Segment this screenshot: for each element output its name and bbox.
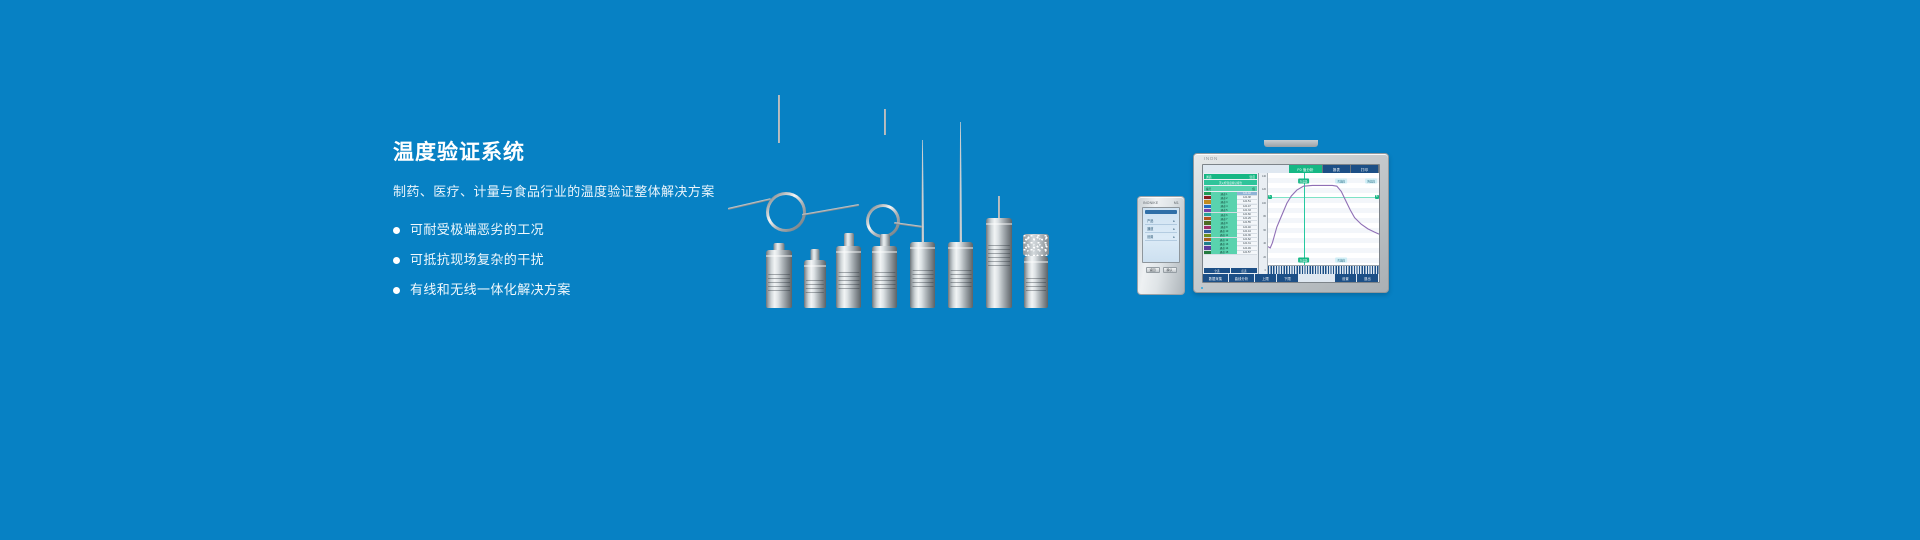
channel-color-swatch bbox=[1204, 246, 1211, 249]
row-label: 通道 bbox=[1147, 226, 1153, 231]
monitor-stand bbox=[1264, 140, 1318, 147]
temperature-chart[interactable]: 140120100806040200 升温段 灭菌段 降温段 A B 升温段 bbox=[1259, 173, 1379, 274]
logger-label bbox=[806, 280, 824, 294]
table-column-headers: 编号 值 bbox=[1204, 186, 1257, 191]
sintered-filter-cap bbox=[1023, 234, 1049, 256]
handheld-titlebar bbox=[1145, 210, 1177, 214]
handheld-screen: 产品 ▸ 通道 ▸ 设置 ▸ bbox=[1142, 207, 1180, 263]
data-logger-unit bbox=[948, 242, 973, 308]
probe-stem bbox=[778, 95, 780, 143]
channel-color-swatch bbox=[1204, 205, 1211, 208]
channel-footer: 全选 反选 bbox=[1204, 268, 1257, 273]
axis-tick-label: 40 bbox=[1263, 242, 1266, 245]
data-logger-unit bbox=[836, 246, 861, 308]
confirm-button[interactable]: 确认 bbox=[1163, 267, 1177, 273]
logger-cap bbox=[844, 233, 854, 246]
marker-cursor-bottom[interactable]: 升温段 bbox=[1298, 258, 1310, 263]
data-logger-unit bbox=[766, 250, 792, 308]
lower-limit-button[interactable]: 下限 bbox=[1277, 274, 1299, 282]
marker-heating[interactable]: 升温段 bbox=[1298, 179, 1310, 184]
handheld-brand: INONIKE bbox=[1143, 201, 1158, 205]
tab-bar: F0 值分析 报表 打印 bbox=[1203, 165, 1379, 173]
hero-banner: 温度验证系统 制药、医疗、计量与食品行业的温度验证整体解决方案 可耐受极端恶劣的… bbox=[0, 0, 1920, 540]
data-logger-unit bbox=[910, 242, 935, 308]
feature-label: 可耐受极端恶劣的工况 bbox=[410, 222, 544, 239]
logger-label bbox=[912, 270, 933, 290]
axis-tick-label: 100 bbox=[1262, 202, 1266, 205]
bullet-dot-icon bbox=[393, 287, 400, 294]
list-item[interactable]: 设置 ▸ bbox=[1145, 233, 1177, 241]
data-logger-unit bbox=[986, 218, 1012, 308]
needle-probe bbox=[959, 122, 962, 242]
curve-analysis-button[interactable]: 曲线分析 bbox=[1229, 274, 1255, 282]
upper-limit-button[interactable]: 上限 bbox=[1255, 274, 1277, 282]
channel-panel: 通道 温度 灭火柜温度验证报告 编号 值 通道 1121.42通道 2121.3… bbox=[1203, 173, 1259, 274]
axis-tick-label: 140 bbox=[1262, 175, 1266, 178]
channel-value-cell: 121.51 bbox=[1237, 200, 1257, 203]
bullet-dot-icon bbox=[393, 257, 400, 264]
channel-value-cell: 121.49 bbox=[1237, 247, 1257, 250]
y-axis: 140120100806040200 bbox=[1259, 173, 1268, 274]
channel-value-cell: 121.62 bbox=[1237, 238, 1257, 241]
channel-color-swatch bbox=[1204, 200, 1211, 203]
channel-color-swatch bbox=[1204, 196, 1211, 199]
report-subtitle: 灭火柜温度验证报告 bbox=[1204, 180, 1257, 185]
needle-probe bbox=[921, 140, 924, 242]
axis-tick-label: 0 bbox=[1265, 269, 1266, 272]
software-screen: F0 值分析 报表 打印 通道 温度 灭火柜温度验证报告 编号 值 通道 1 bbox=[1202, 164, 1380, 283]
tab-f0-analysis[interactable]: F0 值分析 bbox=[1289, 165, 1323, 173]
channel-value-cell: 121.33 bbox=[1237, 209, 1257, 212]
marker-cooling[interactable]: 降温段 bbox=[1365, 179, 1377, 184]
plot-area: 升温段 灭菌段 降温段 A B 升温段 灭菌段 bbox=[1268, 173, 1379, 265]
row-label: 产品 bbox=[1147, 218, 1153, 223]
data-acquisition-button[interactable]: 数据采集 bbox=[1203, 274, 1229, 282]
channel-color-swatch bbox=[1204, 209, 1211, 212]
logger-label bbox=[838, 272, 859, 291]
exit-button[interactable]: 退出 bbox=[1357, 274, 1379, 282]
handheld-reader[interactable]: INONIKE M1 产品 ▸ 通道 ▸ 设置 ▸ 返回 确认 bbox=[1137, 196, 1185, 295]
logger-label bbox=[950, 270, 971, 290]
channel-value-cell: 121.47 bbox=[1237, 205, 1257, 208]
channel-color-swatch bbox=[1204, 238, 1211, 241]
bullet-dot-icon bbox=[393, 227, 400, 234]
probe-stem bbox=[884, 109, 886, 135]
select-all-button[interactable]: 全选 bbox=[1204, 268, 1231, 273]
channel-color-swatch bbox=[1204, 242, 1211, 245]
channel-name-cell: 通道 15 bbox=[1211, 250, 1237, 254]
list-item[interactable]: 通道 ▸ bbox=[1145, 225, 1177, 233]
settings-button[interactable]: 设置 bbox=[1335, 274, 1357, 282]
channel-value-cell: 121.60 bbox=[1237, 213, 1257, 216]
channel-color-swatch bbox=[1204, 251, 1211, 254]
row-label: 设置 bbox=[1147, 234, 1153, 239]
logger-label bbox=[874, 272, 895, 291]
channel-color-swatch bbox=[1204, 234, 1211, 237]
logger-label bbox=[768, 274, 790, 291]
channel-panel-header: 通道 温度 bbox=[1204, 174, 1257, 179]
chevron-right-icon: ▸ bbox=[1173, 235, 1175, 239]
logger-cap bbox=[774, 243, 785, 250]
screen-body: 通道 温度 灭火柜温度验证报告 编号 值 通道 1121.42通道 2121.3… bbox=[1203, 173, 1379, 274]
channel-color-swatch bbox=[1204, 230, 1211, 233]
channel-value-cell: 121.40 bbox=[1237, 226, 1257, 229]
axis-tick-label: 120 bbox=[1262, 188, 1266, 191]
toolbar-spacer bbox=[1299, 274, 1335, 282]
feature-label: 有线和无线一体化解决方案 bbox=[410, 282, 571, 299]
channel-color-swatch bbox=[1204, 213, 1211, 216]
tab-spacer bbox=[1203, 165, 1289, 173]
channel-value-cell: 121.29 bbox=[1237, 217, 1257, 220]
timeline-scrollbar[interactable] bbox=[1268, 265, 1379, 274]
chevron-right-icon: ▸ bbox=[1173, 227, 1175, 231]
bottom-toolbar: 数据采集 曲线分析 上限 下限 设置 退出 bbox=[1203, 274, 1379, 282]
logger-cap bbox=[811, 249, 820, 260]
axis-tick-label: 60 bbox=[1263, 229, 1266, 232]
channel-value-cell: 121.31 bbox=[1237, 242, 1257, 245]
header-right-label: 温度 bbox=[1249, 175, 1255, 179]
logger-label bbox=[1026, 278, 1046, 294]
data-logger-unit bbox=[872, 246, 897, 308]
channel-value-cell: 121.36 bbox=[1237, 234, 1257, 237]
marker-sterilize[interactable]: 灭菌段 bbox=[1335, 179, 1347, 184]
monitor-display: INON F0 值分析 报表 打印 通道 温度 灭火柜温度验证报告 bbox=[1193, 153, 1389, 293]
channel-value-cell: 121.42 bbox=[1237, 192, 1257, 195]
temperature-curve bbox=[1268, 173, 1379, 265]
channel-color-swatch bbox=[1204, 226, 1211, 229]
header-left-label: 通道 bbox=[1206, 175, 1212, 179]
handheld-model: M1 bbox=[1174, 201, 1179, 205]
invert-selection-button[interactable]: 反选 bbox=[1231, 268, 1257, 273]
chevron-right-icon: ▸ bbox=[1173, 219, 1175, 223]
data-logger-unit bbox=[1024, 256, 1048, 308]
data-logger-unit bbox=[804, 260, 826, 308]
power-led-icon bbox=[1201, 287, 1203, 289]
back-button[interactable]: 返回 bbox=[1146, 267, 1160, 273]
feature-label: 可抵抗现场复杂的干扰 bbox=[410, 252, 544, 269]
marker-point-a[interactable]: A bbox=[1268, 195, 1272, 199]
monitor-brand: INON bbox=[1204, 156, 1218, 161]
channel-color-swatch bbox=[1204, 217, 1211, 220]
axis-tick-label: 80 bbox=[1263, 215, 1266, 218]
channel-value-cell: 121.38 bbox=[1237, 196, 1257, 199]
coiled-probe-wire bbox=[728, 188, 858, 236]
table-row[interactable]: 通道 15121.57 bbox=[1204, 251, 1257, 255]
channel-value-cell: 121.55 bbox=[1237, 221, 1257, 224]
handheld-keypad: 返回 确认 bbox=[1142, 263, 1180, 273]
marker-point-b[interactable]: B bbox=[1375, 195, 1379, 199]
logger-label bbox=[988, 245, 1010, 267]
channel-color-swatch bbox=[1204, 192, 1211, 195]
marker-bottom-2[interactable]: 灭菌段 bbox=[1335, 258, 1347, 263]
tab-report[interactable]: 报表 bbox=[1323, 165, 1351, 173]
col-header-value: 值 bbox=[1252, 187, 1255, 191]
list-item[interactable]: 产品 ▸ bbox=[1145, 217, 1177, 225]
channel-value-cell: 121.57 bbox=[1237, 251, 1257, 254]
channel-color-swatch bbox=[1204, 221, 1211, 224]
tab-print[interactable]: 打印 bbox=[1351, 165, 1379, 173]
probe-stem bbox=[998, 196, 1000, 218]
channel-value-cell: 121.44 bbox=[1237, 230, 1257, 233]
logger-cap bbox=[880, 234, 890, 246]
axis-tick-label: 20 bbox=[1263, 256, 1266, 259]
channel-table[interactable]: 通道 1121.42通道 2121.38通道 3121.51通道 4121.47… bbox=[1204, 192, 1257, 267]
col-header-id: 编号 bbox=[1206, 187, 1211, 191]
